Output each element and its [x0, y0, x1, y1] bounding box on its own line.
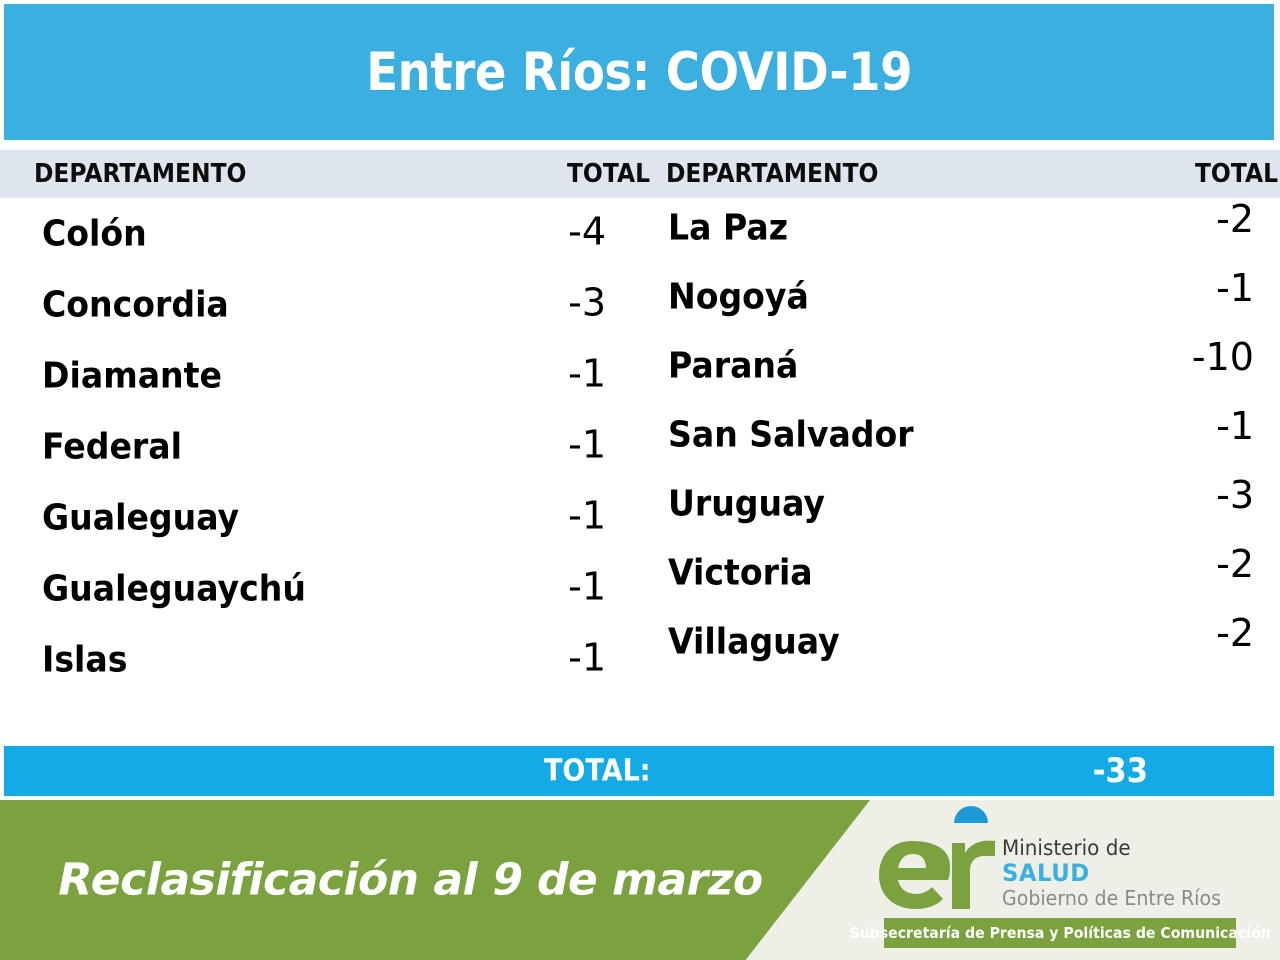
table-column-left: Colón -4 Concordia -3 Diamante -1 Federa… — [0, 198, 640, 746]
table-header-row: DEPARTAMENTO TOTAL DEPARTAMENTO TOTAL — [0, 150, 1280, 198]
table-row: Colón -4 — [0, 198, 640, 269]
department-name: Villaguay — [668, 621, 840, 662]
column-header-total-left: TOTAL — [425, 159, 650, 189]
total-value: -33 — [910, 751, 1148, 791]
table-row: Concordia -3 — [0, 269, 640, 340]
department-name: Concordia — [42, 284, 229, 325]
table-row: Villaguay -2 — [640, 606, 1280, 677]
department-total: -2 — [1216, 197, 1254, 241]
department-name: Uruguay — [668, 483, 825, 524]
title-bar: Entre Ríos: COVID-19 — [4, 4, 1274, 140]
department-total: -1 — [568, 351, 606, 395]
department-total: -4 — [568, 209, 606, 253]
column-header-department-left: DEPARTAMENTO — [34, 159, 246, 189]
logo-gobierno-line: Gobierno de Entre Ríos — [1002, 886, 1230, 910]
department-name: Nogoyá — [668, 276, 809, 317]
page-title: Entre Ríos: COVID-19 — [366, 42, 912, 103]
column-header-department-right: DEPARTAMENTO — [666, 159, 878, 189]
ministry-logo: Ministerio de SALUD Gobierno de Entre Rí… — [878, 806, 1248, 956]
department-total: -1 — [1216, 404, 1254, 448]
department-total: -2 — [1216, 542, 1254, 586]
logo-ministerio-line: Ministerio de — [1002, 836, 1230, 860]
table-column-right: La Paz -2 Nogoyá -1 Paraná -10 San Salva… — [640, 198, 1280, 746]
department-name: Islas — [42, 639, 127, 680]
department-name: Federal — [42, 426, 182, 467]
er-monogram-icon — [878, 808, 996, 913]
department-total: -1 — [568, 635, 606, 679]
table-row: Paraná -10 — [640, 330, 1280, 401]
department-name: Colón — [42, 213, 147, 254]
table-row: La Paz -2 — [640, 192, 1280, 263]
department-total: -2 — [1216, 611, 1254, 655]
table-row: Diamante -1 — [0, 340, 640, 411]
department-total: -1 — [568, 493, 606, 537]
subsecretaria-label: Subsecretaría de Prensa y Políticas de C… — [849, 924, 1270, 942]
department-total: -3 — [568, 280, 606, 324]
department-total: -1 — [568, 564, 606, 608]
table-row: Victoria -2 — [640, 537, 1280, 608]
slide-root: Entre Ríos: COVID-19 DEPARTAMENTO TOTAL … — [0, 0, 1280, 960]
table-row: Gualeguay -1 — [0, 482, 640, 553]
subsecretaria-strip: Subsecretaría de Prensa y Políticas de C… — [884, 918, 1236, 948]
department-total: -1 — [1216, 266, 1254, 310]
department-name: Victoria — [668, 552, 813, 593]
table-row: Islas -1 — [0, 624, 640, 695]
department-name: Diamante — [42, 355, 222, 396]
department-name: Paraná — [668, 345, 798, 386]
table-row: Nogoyá -1 — [640, 261, 1280, 332]
logo-salud-line: SALUD — [1002, 860, 1230, 886]
department-name: San Salvador — [668, 414, 914, 455]
department-name: La Paz — [668, 207, 788, 248]
total-bar: TOTAL: -33 — [4, 746, 1274, 796]
table-row: Gualeguaychú -1 — [0, 553, 640, 624]
department-total: -10 — [1192, 335, 1254, 379]
total-label: TOTAL: — [544, 754, 651, 789]
department-total: -1 — [568, 422, 606, 466]
footer-caption: Reclasificación al 9 de marzo — [53, 855, 768, 906]
table-body: Colón -4 Concordia -3 Diamante -1 Federa… — [0, 198, 1280, 746]
logo-text-block: Ministerio de SALUD Gobierno de Entre Rí… — [1002, 836, 1242, 910]
column-header-total-right: TOTAL — [1046, 159, 1278, 189]
department-total: -3 — [1216, 473, 1254, 517]
table-row: Federal -1 — [0, 411, 640, 482]
footer: Reclasificación al 9 de marzo Ministerio… — [0, 800, 1280, 960]
department-name: Gualeguay — [42, 497, 239, 538]
table-row: Uruguay -3 — [640, 468, 1280, 539]
table-row: San Salvador -1 — [640, 399, 1280, 470]
department-name: Gualeguaychú — [42, 568, 306, 609]
